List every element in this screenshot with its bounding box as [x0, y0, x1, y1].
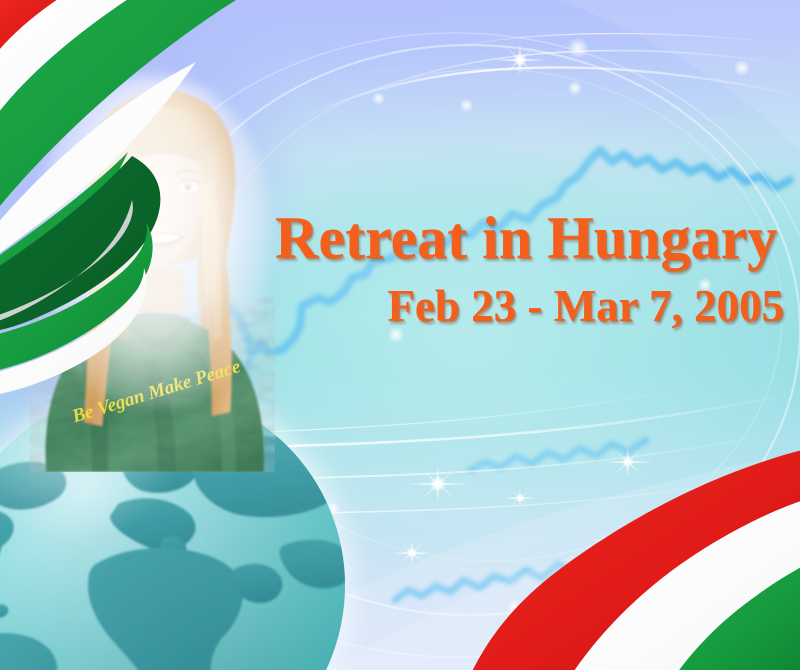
event-dates: Feb 23 - Mar 7, 2005	[275, 284, 790, 329]
title-block: Retreat in Hungary Feb 23 - Mar 7, 2005	[275, 208, 790, 329]
woman-portrait: Be Vegan Make Peace	[30, 72, 275, 472]
page-title: Retreat in Hungary	[275, 208, 790, 268]
portrait-glow	[36, 76, 270, 406]
poster-root: Be Vegan Make Peace	[0, 0, 800, 670]
